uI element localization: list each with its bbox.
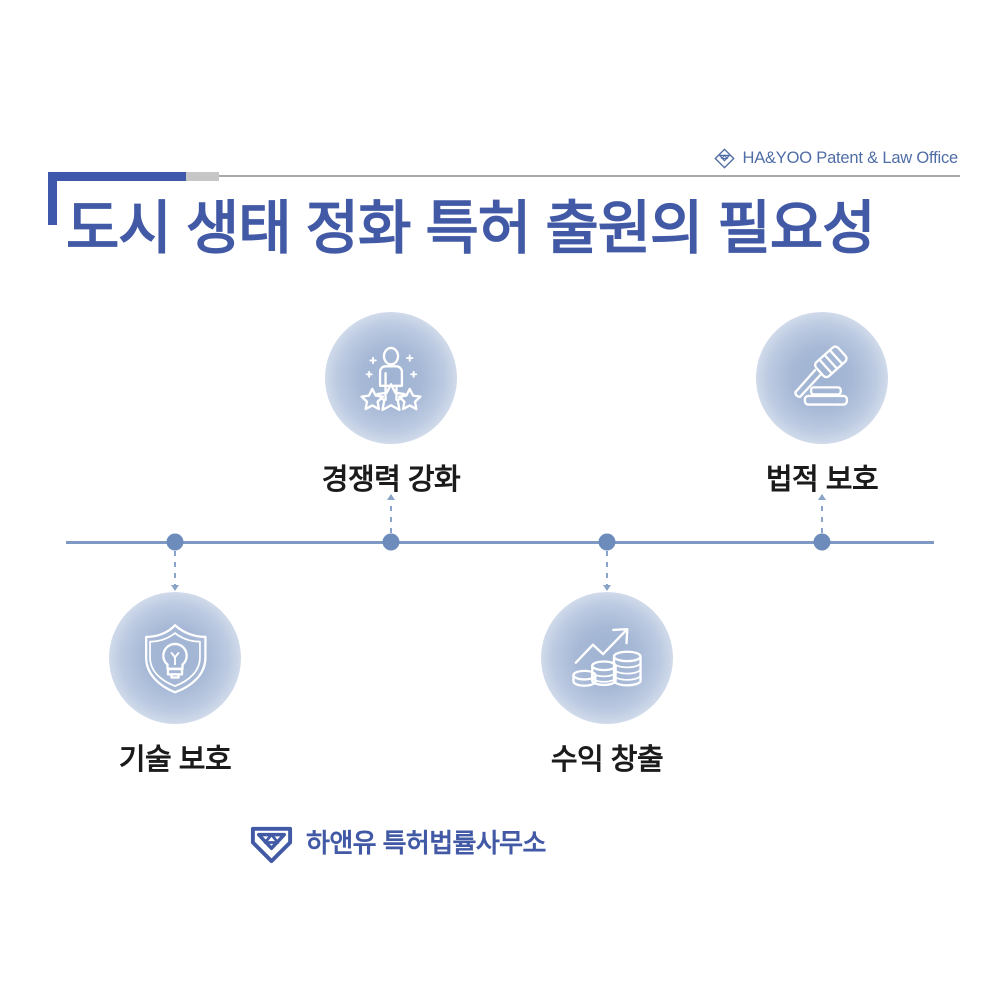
gavel-icon bbox=[783, 339, 861, 417]
slide-canvas: HA&YOO Patent & Law Office 도시 생태 정화 특허 출… bbox=[0, 0, 1000, 1000]
coins-growth-arrow-icon bbox=[568, 619, 646, 697]
icon-bubble-legal-protection bbox=[756, 312, 888, 444]
connector-arrow-down-icon bbox=[603, 585, 611, 591]
hayoo-diamond-logo-icon bbox=[714, 148, 735, 169]
hayoo-diamond-logo-icon bbox=[248, 818, 295, 865]
timeline-dot-competitiveness bbox=[383, 534, 400, 551]
connector-legal-protection bbox=[821, 495, 823, 534]
icon-bubble-tech-protection bbox=[109, 592, 241, 724]
node-label-legal-protection: 법적 보호 bbox=[766, 456, 878, 498]
header-brand: HA&YOO Patent & Law Office bbox=[714, 148, 958, 169]
accent-bar-gray bbox=[186, 172, 219, 181]
header-brand-name: HA&YOO Patent & Law Office bbox=[742, 149, 958, 168]
connector-revenue-generation bbox=[606, 551, 608, 590]
footer-brand: 하앤유 특허법률사무소 bbox=[248, 818, 546, 865]
timeline-dot-revenue-generation bbox=[599, 534, 616, 551]
node-revenue-generation[interactable]: 수익 창출 bbox=[477, 592, 737, 778]
timeline-dot-legal-protection bbox=[814, 534, 831, 551]
footer-brand-name: 하앤유 특허법률사무소 bbox=[306, 823, 546, 860]
timeline-axis bbox=[66, 541, 934, 544]
accent-bar-blue bbox=[48, 172, 186, 181]
icon-bubble-revenue-generation bbox=[541, 592, 673, 724]
connector-competitiveness bbox=[390, 495, 392, 534]
shield-lightbulb-icon bbox=[136, 619, 214, 697]
node-competitiveness[interactable]: 경쟁력 강화 bbox=[261, 312, 521, 498]
node-label-tech-protection: 기술 보호 bbox=[119, 736, 231, 778]
icon-bubble-competitiveness bbox=[325, 312, 457, 444]
node-tech-protection[interactable]: 기술 보호 bbox=[45, 592, 305, 778]
timeline-dot-tech-protection bbox=[167, 534, 184, 551]
connector-arrow-down-icon bbox=[171, 585, 179, 591]
node-legal-protection[interactable]: 법적 보호 bbox=[692, 312, 952, 498]
connector-tech-protection bbox=[174, 551, 176, 590]
page-title: 도시 생태 정화 특허 출원의 필요성 bbox=[66, 196, 875, 263]
person-stars-icon bbox=[352, 339, 430, 417]
node-label-revenue-generation: 수익 창출 bbox=[551, 736, 663, 778]
node-label-competitiveness: 경쟁력 강화 bbox=[322, 456, 460, 498]
accent-thin-rule bbox=[219, 175, 960, 177]
